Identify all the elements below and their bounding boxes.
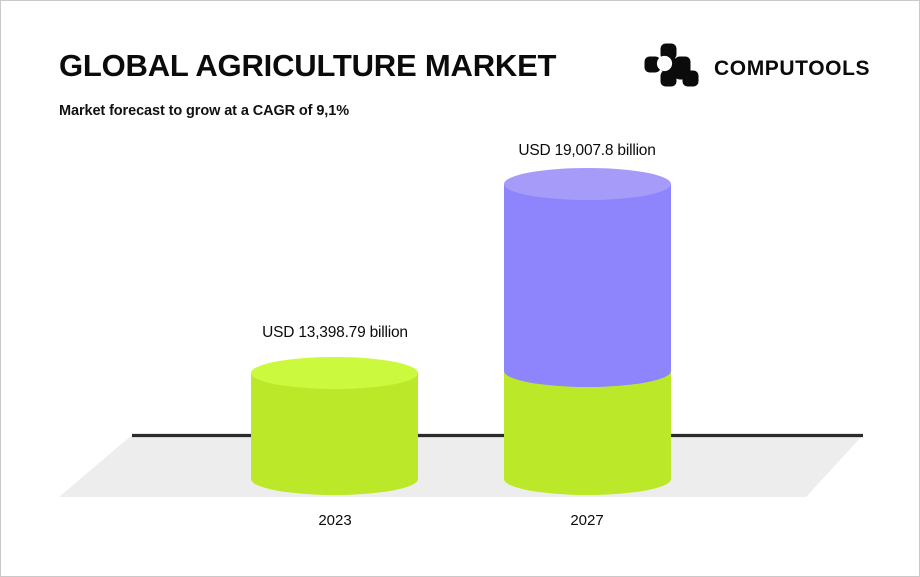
bar-2023-top xyxy=(251,357,418,389)
bar-2023 xyxy=(251,357,418,495)
bar-2027-base-body xyxy=(504,371,671,495)
bar-2027-top xyxy=(504,168,671,200)
x-axis-label-2023: 2023 xyxy=(249,512,421,529)
bar-value-label-2027: USD 19,007.8 billion xyxy=(501,142,673,160)
ground-plane xyxy=(59,435,863,497)
bar-value-label-2023: USD 13,398.79 billion xyxy=(249,324,421,342)
bar-2023-body xyxy=(251,373,418,495)
bar-2027-upper-body xyxy=(504,184,671,387)
bar-chart-plot xyxy=(1,1,920,577)
bar-2027 xyxy=(504,168,671,495)
infographic-canvas: GLOBAL AGRICULTURE MARKET Market forecas… xyxy=(0,0,920,577)
x-axis-label-2027: 2027 xyxy=(501,512,673,529)
